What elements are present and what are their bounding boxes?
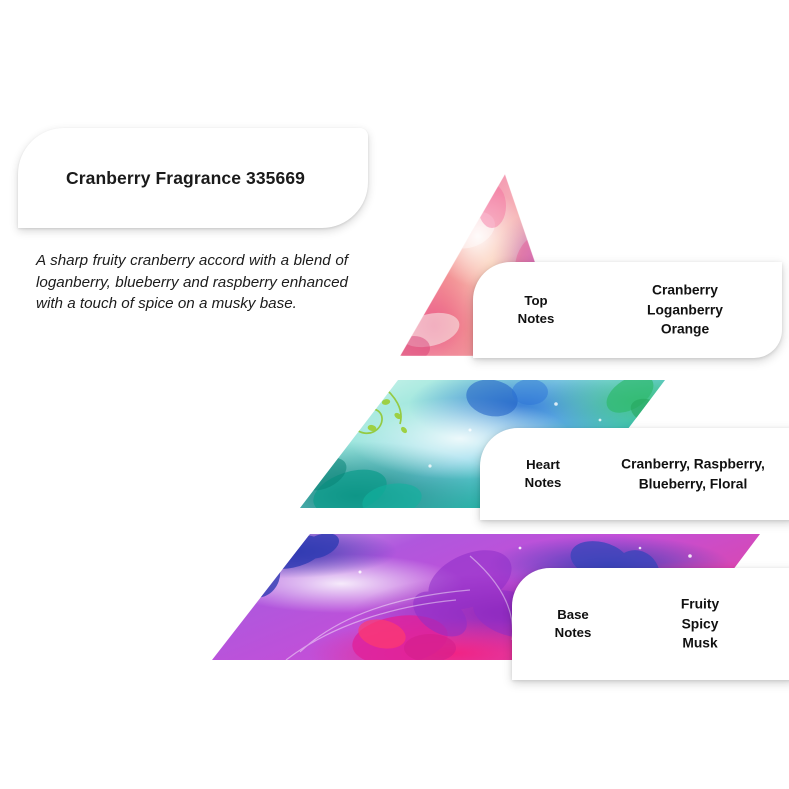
top-notes-label: Top Notes: [495, 292, 577, 328]
heart-notes-label: Heart Notes: [502, 456, 584, 492]
base-notes-label: Base Notes: [532, 606, 614, 642]
fragrance-pyramid-infographic: Cranberry Fragrance 335669 A sharp fruit…: [0, 0, 789, 789]
base-notes-card: Base Notes Fruity Spicy Musk: [512, 568, 789, 680]
top-notes-card: Top Notes Cranberry Loganberry Orange: [473, 262, 782, 358]
base-notes-values: Fruity Spicy Musk: [632, 595, 768, 654]
heart-notes-card: Heart Notes Cranberry, Raspberry, Bluebe…: [480, 428, 789, 520]
heart-notes-values: Cranberry, Raspberry, Blueberry, Floral: [600, 454, 786, 493]
top-notes-values: Cranberry Loganberry Orange: [603, 281, 767, 340]
